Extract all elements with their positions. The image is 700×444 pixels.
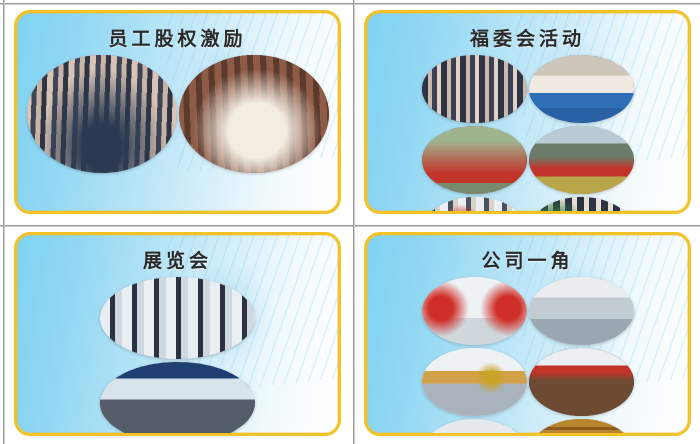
panel-exhibition[interactable]: 展览会 xyxy=(0,222,350,444)
screenshot-stage: 员工股权激励福委会活动展览会公司一角 xyxy=(0,0,700,444)
photo-table-tennis-match[interactable] xyxy=(529,55,634,123)
photo-image xyxy=(529,419,634,436)
panel-employee-equity[interactable]: 员工股权激励 xyxy=(0,0,350,222)
panel-separator-top xyxy=(0,225,350,227)
panel-grid: 员工股权激励福委会活动展览会公司一角 xyxy=(0,0,700,444)
panel-card: 公司一角 xyxy=(364,232,691,436)
panel-separator-top xyxy=(0,3,350,5)
photo-office-workstations[interactable] xyxy=(422,348,527,416)
photo-image xyxy=(100,277,255,359)
photo-image xyxy=(179,55,329,173)
photo-warehouse-shelving[interactable] xyxy=(529,419,634,436)
panel-separator-left xyxy=(353,0,355,222)
photo-exhibition-hall-crowd[interactable] xyxy=(100,362,255,436)
photo-outing-red-banner[interactable] xyxy=(422,126,527,194)
panel-company-corner[interactable]: 公司一角 xyxy=(350,222,700,444)
photo-collage xyxy=(367,51,688,214)
panel-separator-top xyxy=(350,225,700,227)
photo-image xyxy=(529,277,634,345)
photo-team-group-indoor[interactable] xyxy=(422,55,527,123)
panel-welfare-committee[interactable]: 福委会活动 xyxy=(350,0,700,222)
photo-image xyxy=(529,126,634,194)
photo-collage xyxy=(17,51,338,173)
photo-christmas-party[interactable] xyxy=(529,197,634,214)
photo-image xyxy=(422,348,527,416)
photo-image xyxy=(529,55,634,123)
photo-outdoor-group-hike[interactable] xyxy=(529,126,634,194)
panel-title: 公司一角 xyxy=(367,235,688,273)
photo-image xyxy=(27,55,177,173)
photo-image xyxy=(529,197,634,214)
panel-title: 福委会活动 xyxy=(367,13,688,51)
photo-image xyxy=(422,197,527,214)
photo-collage xyxy=(367,273,688,436)
photo-reception-lobby[interactable] xyxy=(422,277,527,345)
panel-separator-top xyxy=(350,3,700,5)
photo-image xyxy=(422,126,527,194)
panel-separator-left xyxy=(3,222,5,444)
panel-card: 员工股权激励 xyxy=(14,10,341,214)
panel-title: 员工股权激励 xyxy=(17,13,338,51)
photo-meeting-room[interactable] xyxy=(529,348,634,416)
panel-title: 展览会 xyxy=(17,235,338,273)
panel-separator-left xyxy=(3,0,5,222)
photo-collage xyxy=(17,273,338,436)
panel-separator-left xyxy=(353,222,355,444)
photo-group-photo-red-banner[interactable] xyxy=(27,55,177,173)
panel-card: 展览会 xyxy=(14,232,341,436)
photo-image xyxy=(422,55,527,123)
panel-card: 福委会活动 xyxy=(364,10,691,214)
photo-image xyxy=(529,348,634,416)
photo-open-office-area[interactable] xyxy=(529,277,634,345)
photo-image xyxy=(422,277,527,345)
photo-booth-demonstration[interactable] xyxy=(100,277,255,359)
photo-image xyxy=(422,419,527,436)
photo-award-ceremony[interactable] xyxy=(422,197,527,214)
photo-production-machines[interactable] xyxy=(422,419,527,436)
photo-image xyxy=(100,362,255,436)
photo-banquet-dinner[interactable] xyxy=(179,55,329,173)
